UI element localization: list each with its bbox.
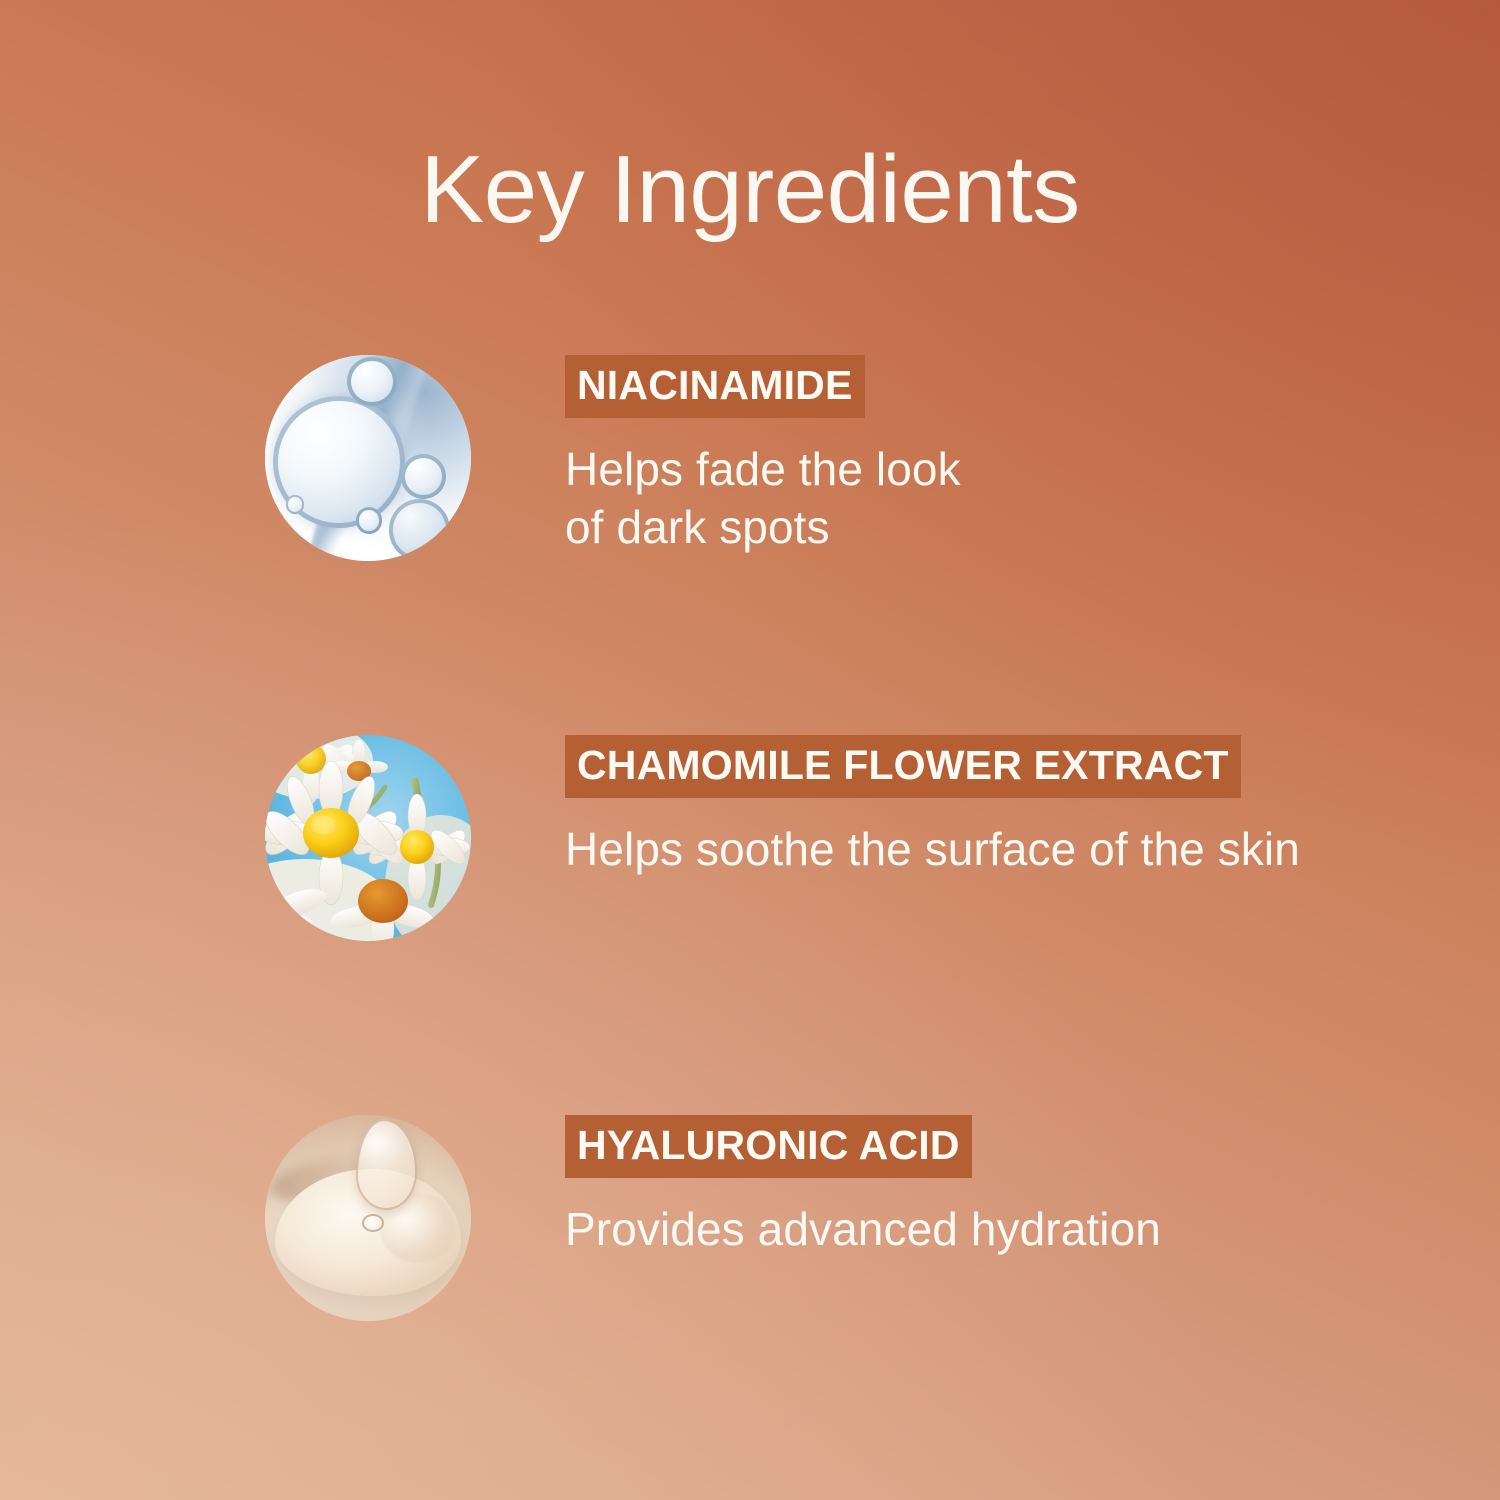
- ingredient-name-badge: HYALURONIC ACID: [565, 1115, 972, 1178]
- ingredient-name-wrap: CHAMOMILE FLOWER EXTRACT: [565, 735, 1465, 798]
- bubble-right: [401, 454, 446, 499]
- ingredient-copy: HYALURONIC ACID Provides advanced hydrat…: [565, 1115, 1465, 1258]
- bubbles-illustration: [265, 355, 471, 561]
- chamomile-illustration: [265, 735, 471, 941]
- ingredient-name-wrap: HYALURONIC ACID: [565, 1115, 1465, 1178]
- ingredient-name-badge: NIACINAMIDE: [565, 355, 865, 418]
- chamomile-flowers-photo: [265, 735, 471, 941]
- ingredient-description: Provides advanced hydration: [565, 1200, 1465, 1258]
- gel-droplet: [356, 1119, 418, 1210]
- key-ingredients-poster: Key Ingredients NIACINAMIDE Helps fade t…: [0, 0, 1500, 1500]
- ingredient-copy: NIACINAMIDE Helps fade the look of dark …: [565, 355, 1465, 557]
- bubble-top: [347, 357, 396, 406]
- ingredient-name-badge: CHAMOMILE FLOWER EXTRACT: [565, 735, 1241, 798]
- ingredient-name-wrap: NIACINAMIDE: [565, 355, 1465, 418]
- page-title: Key Ingredients: [0, 140, 1500, 241]
- hydration-gel-droplet-photo: [265, 1115, 471, 1321]
- gel-illustration: [265, 1115, 471, 1321]
- ingredient-description: Helps fade the look of dark spots: [565, 440, 1465, 557]
- ingredient-description: Helps soothe the surface of the skin: [565, 820, 1465, 878]
- ingredient-copy: CHAMOMILE FLOWER EXTRACT Helps soothe th…: [565, 735, 1465, 878]
- serum-bubbles-photo: [265, 355, 471, 561]
- bubble-bottom-right: [389, 499, 451, 561]
- bubble-tiny: [286, 495, 305, 514]
